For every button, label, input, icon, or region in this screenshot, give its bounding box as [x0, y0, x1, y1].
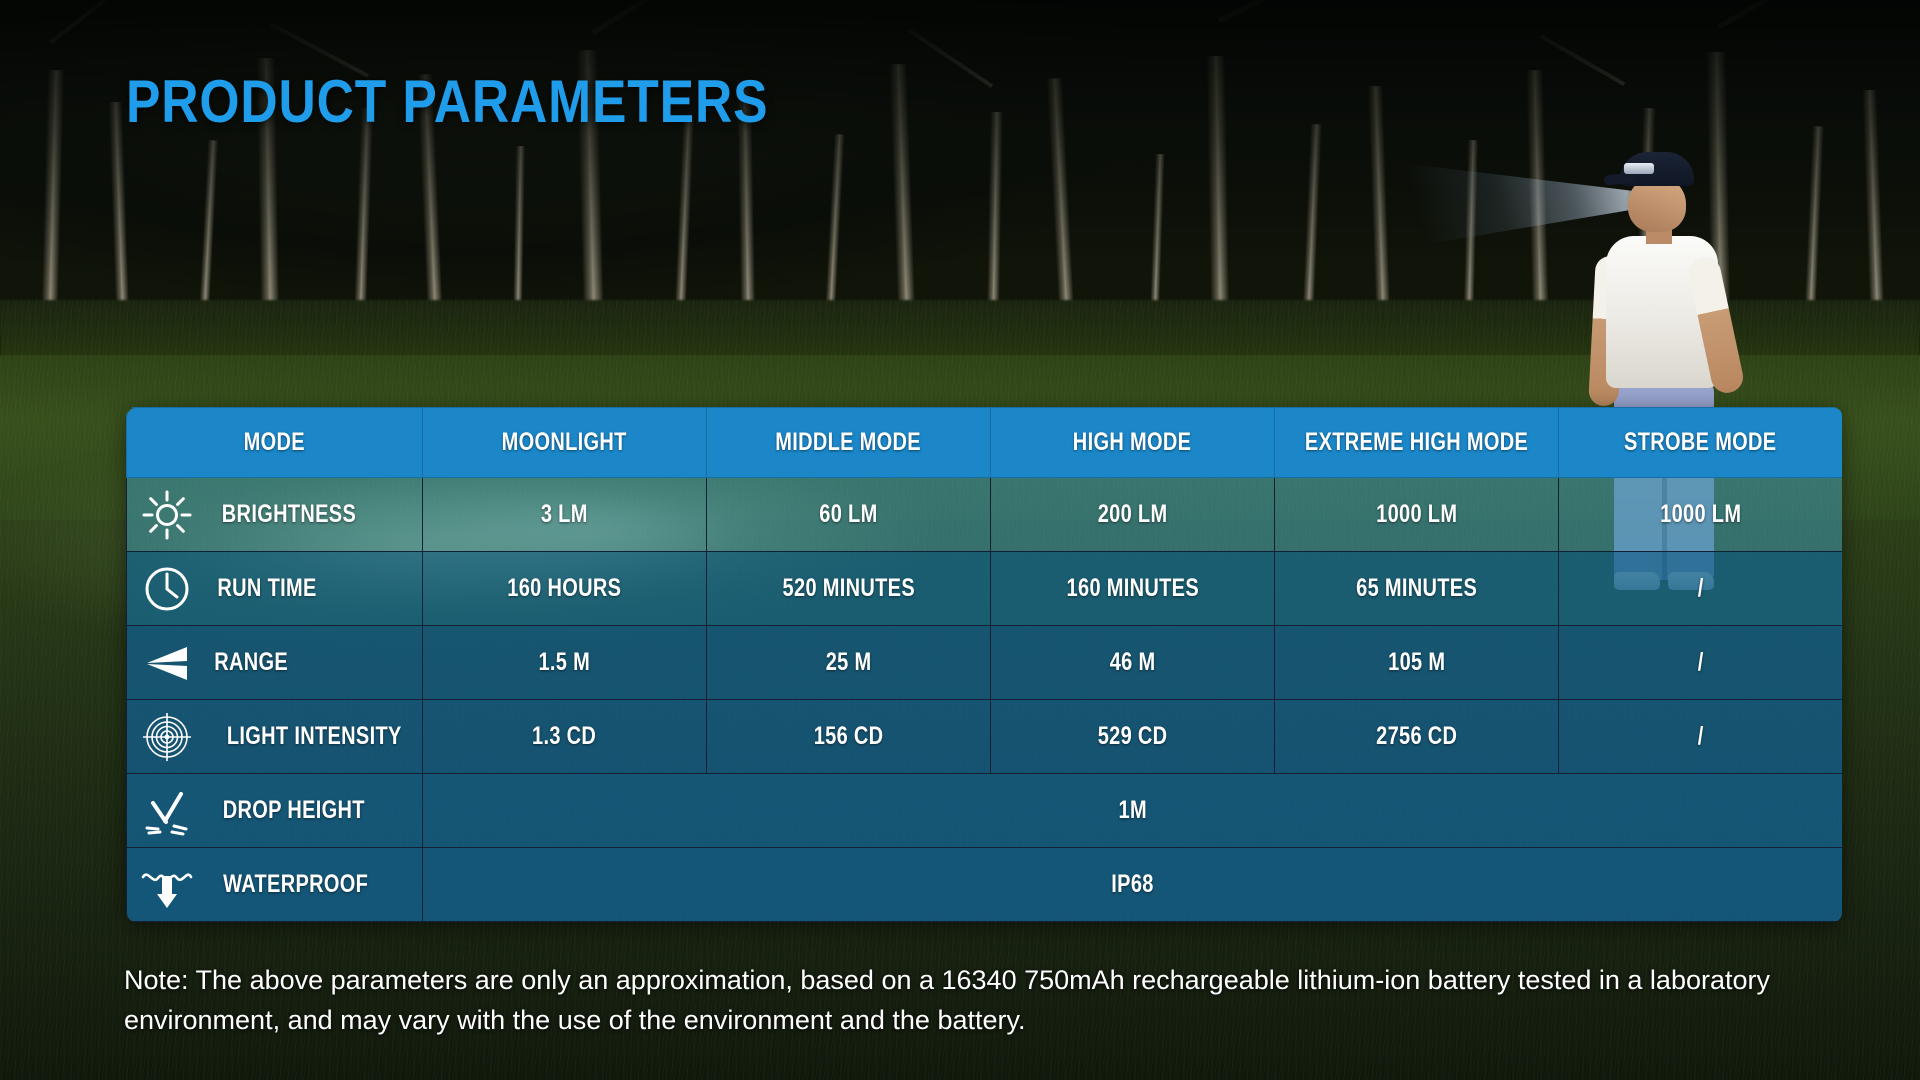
cell-intensity-strobe: /	[1559, 700, 1843, 774]
row-label-text: RANGE	[214, 648, 288, 677]
cell-runtime-middle: 520 MINUTES	[707, 552, 991, 626]
cell-intensity-high: 529 CD	[991, 700, 1275, 774]
header-strobe-mode-label: STROBE MODE	[1624, 428, 1776, 457]
header-moonlight: MOONLIGHT	[423, 408, 707, 478]
row-label-text: RUN TIME	[217, 574, 316, 603]
clock-icon	[141, 563, 193, 615]
row-label-brightness: BRIGHTNESS	[127, 478, 423, 552]
sun-icon	[141, 489, 193, 541]
footnote: Note: The above parameters are only an a…	[124, 960, 1824, 1040]
beam-range-icon	[141, 637, 193, 689]
header-mode-label: MODE	[244, 428, 305, 457]
cell-brightness-extreme: 1000 LM	[1275, 478, 1559, 552]
cell-range-extreme: 105 M	[1275, 626, 1559, 700]
cell-waterproof-merged: IP68	[423, 848, 1843, 922]
header-high-mode: HIGH MODE	[991, 408, 1275, 478]
table-row: DROP HEIGHT 1M	[127, 774, 1843, 848]
table-row: RANGE 1.5 M 25 M 46 M 105 M /	[127, 626, 1843, 700]
header-mode: MODE	[127, 408, 423, 478]
row-label-text: BRIGHTNESS	[222, 500, 356, 529]
header-strobe-mode: STROBE MODE	[1559, 408, 1843, 478]
cell-brightness-middle: 60 LM	[707, 478, 991, 552]
cell-range-strobe: /	[1559, 626, 1843, 700]
cell-range-middle: 25 M	[707, 626, 991, 700]
row-label-range: RANGE	[127, 626, 423, 700]
row-label-waterproof: WATERPROOF	[127, 848, 423, 922]
cell-intensity-moonlight: 1.3 CD	[423, 700, 707, 774]
cell-runtime-moonlight: 160 HOURS	[423, 552, 707, 626]
cell-brightness-high: 200 LM	[991, 478, 1275, 552]
table-row: BRIGHTNESS 3 LM 60 LM 200 LM 1000 LM 100…	[127, 478, 1843, 552]
waterproof-icon	[141, 859, 193, 911]
cell-range-high: 46 M	[991, 626, 1275, 700]
headlamp-icon	[1624, 163, 1654, 174]
cell-runtime-strobe: /	[1559, 552, 1843, 626]
row-label-text: WATERPROOF	[223, 870, 368, 899]
product-parameters-table: MODE MOONLIGHT MIDDLE MODE HIGH MODE EXT…	[126, 407, 1842, 922]
cell-runtime-high: 160 MINUTES	[991, 552, 1275, 626]
row-label-text: DROP HEIGHT	[223, 796, 365, 825]
parameters-table: MODE MOONLIGHT MIDDLE MODE HIGH MODE EXT…	[126, 407, 1842, 922]
page-title: PRODUCT PARAMETERS	[126, 72, 768, 132]
header-middle-mode: MIDDLE MODE	[707, 408, 991, 478]
table-row: WATERPROOF IP68	[127, 848, 1843, 922]
header-middle-mode-label: MIDDLE MODE	[776, 428, 922, 457]
row-label-run-time: RUN TIME	[127, 552, 423, 626]
header-moonlight-label: MOONLIGHT	[502, 428, 627, 457]
row-label-text: LIGHT INTENSITY	[227, 722, 402, 751]
table-header-row: MODE MOONLIGHT MIDDLE MODE HIGH MODE EXT…	[127, 408, 1843, 478]
cell-intensity-middle: 156 CD	[707, 700, 991, 774]
header-high-mode-label: HIGH MODE	[1073, 428, 1191, 457]
row-label-light-intensity: LIGHT INTENSITY	[127, 700, 423, 774]
cell-runtime-extreme: 65 MINUTES	[1275, 552, 1559, 626]
row-label-drop-height: DROP HEIGHT	[127, 774, 423, 848]
cell-brightness-strobe: 1000 LM	[1559, 478, 1843, 552]
cell-intensity-extreme: 2756 CD	[1275, 700, 1559, 774]
cell-range-moonlight: 1.5 M	[423, 626, 707, 700]
header-extreme-high-mode: EXTREME HIGH MODE	[1275, 408, 1559, 478]
cell-brightness-moonlight: 3 LM	[423, 478, 707, 552]
target-radar-icon	[141, 711, 193, 763]
table-row: LIGHT INTENSITY 1.3 CD 156 CD 529 CD 275…	[127, 700, 1843, 774]
drop-impact-icon	[141, 785, 193, 837]
header-extreme-high-mode-label: EXTREME HIGH MODE	[1305, 428, 1528, 457]
table-row: RUN TIME 160 HOURS 520 MINUTES 160 MINUT…	[127, 552, 1843, 626]
cell-drop-height-merged: 1M	[423, 774, 1843, 848]
